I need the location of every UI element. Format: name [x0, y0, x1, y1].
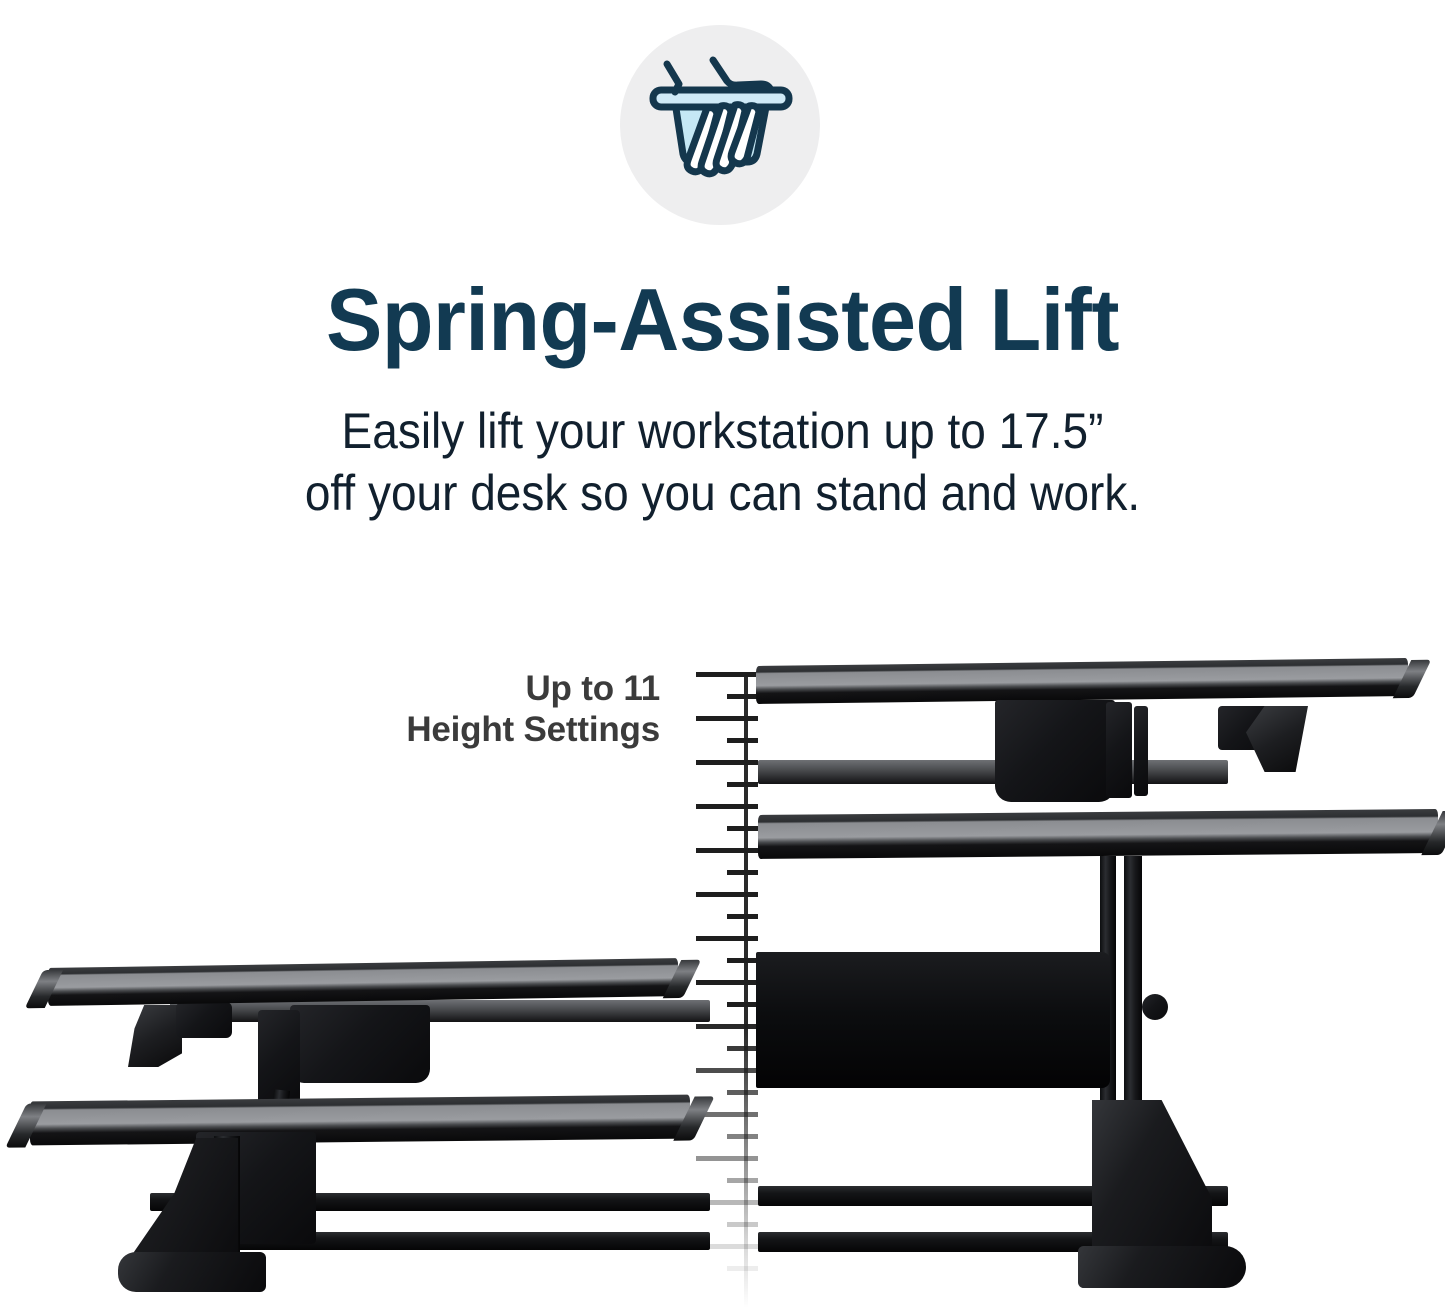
- tray-edge-cap-left-left: [25, 970, 64, 1009]
- caption-line-1: Up to 11: [330, 668, 660, 709]
- rear-rail-upper: [170, 1000, 710, 1022]
- ruler-tick: [727, 738, 758, 743]
- keyboard-tray-surface-right: [756, 658, 1408, 704]
- work-surface-left: [30, 1095, 690, 1146]
- ruler-tick: [727, 1134, 758, 1139]
- back-panel-right: [756, 952, 1110, 1088]
- lift-mechanism-housing-right: [995, 700, 1115, 802]
- column-pivot-right: [1142, 994, 1168, 1020]
- work-edge-cap-right-right: [1421, 811, 1445, 855]
- ruler-tick: [727, 870, 758, 875]
- ruler-tick: [696, 716, 758, 721]
- ruler-tick: [696, 1024, 758, 1029]
- ruler-tick: [727, 1090, 758, 1095]
- ruler-tick: [696, 672, 758, 677]
- ruler-tick: [727, 914, 758, 919]
- ruler-tick: [696, 892, 758, 897]
- base-foot-pad-left: [118, 1252, 266, 1292]
- ruler-tick: [727, 1222, 758, 1227]
- ruler-tick: [696, 1156, 758, 1161]
- keyboard-tray-surface-left: [48, 958, 678, 1006]
- tray-edge-cap-right-right: [1393, 660, 1432, 698]
- lift-arm-right: [1106, 702, 1132, 798]
- rear-rail-upper-right: [758, 760, 1228, 784]
- ruler-tick: [727, 1178, 758, 1183]
- ruler-tick: [727, 1266, 758, 1271]
- ruler-tick: [727, 694, 758, 699]
- ruler-tick: [696, 1068, 758, 1073]
- work-surface-right: [758, 809, 1438, 859]
- ruler-tick: [696, 804, 758, 809]
- lift-column-right-b: [1124, 856, 1142, 1112]
- ruler-tick: [727, 1002, 758, 1007]
- ruler-tick: [696, 760, 758, 765]
- height-settings-caption: Up to 11 Height Settings: [330, 668, 660, 750]
- ruler-tick: [727, 1046, 758, 1051]
- product-illustration: Up to 11 Height Settings: [0, 0, 1445, 1308]
- ruler-spine: [744, 672, 748, 1308]
- ruler-tick: [696, 936, 758, 941]
- lift-link-right: [1134, 706, 1148, 796]
- ruler-tick: [727, 782, 758, 787]
- ruler-tick: [727, 958, 758, 963]
- base-foot-pad-right: [1078, 1246, 1246, 1288]
- work-edge-cap-left-left: [5, 1103, 46, 1147]
- lift-mechanism-housing-left: [290, 1005, 430, 1083]
- tray-clamp-left: [128, 1005, 182, 1067]
- ruler-tick: [696, 848, 758, 853]
- caption-line-2: Height Settings: [330, 709, 660, 750]
- tray-bracket-left: [176, 1002, 232, 1038]
- ruler-tick: [696, 980, 758, 985]
- ruler-tick: [727, 826, 758, 831]
